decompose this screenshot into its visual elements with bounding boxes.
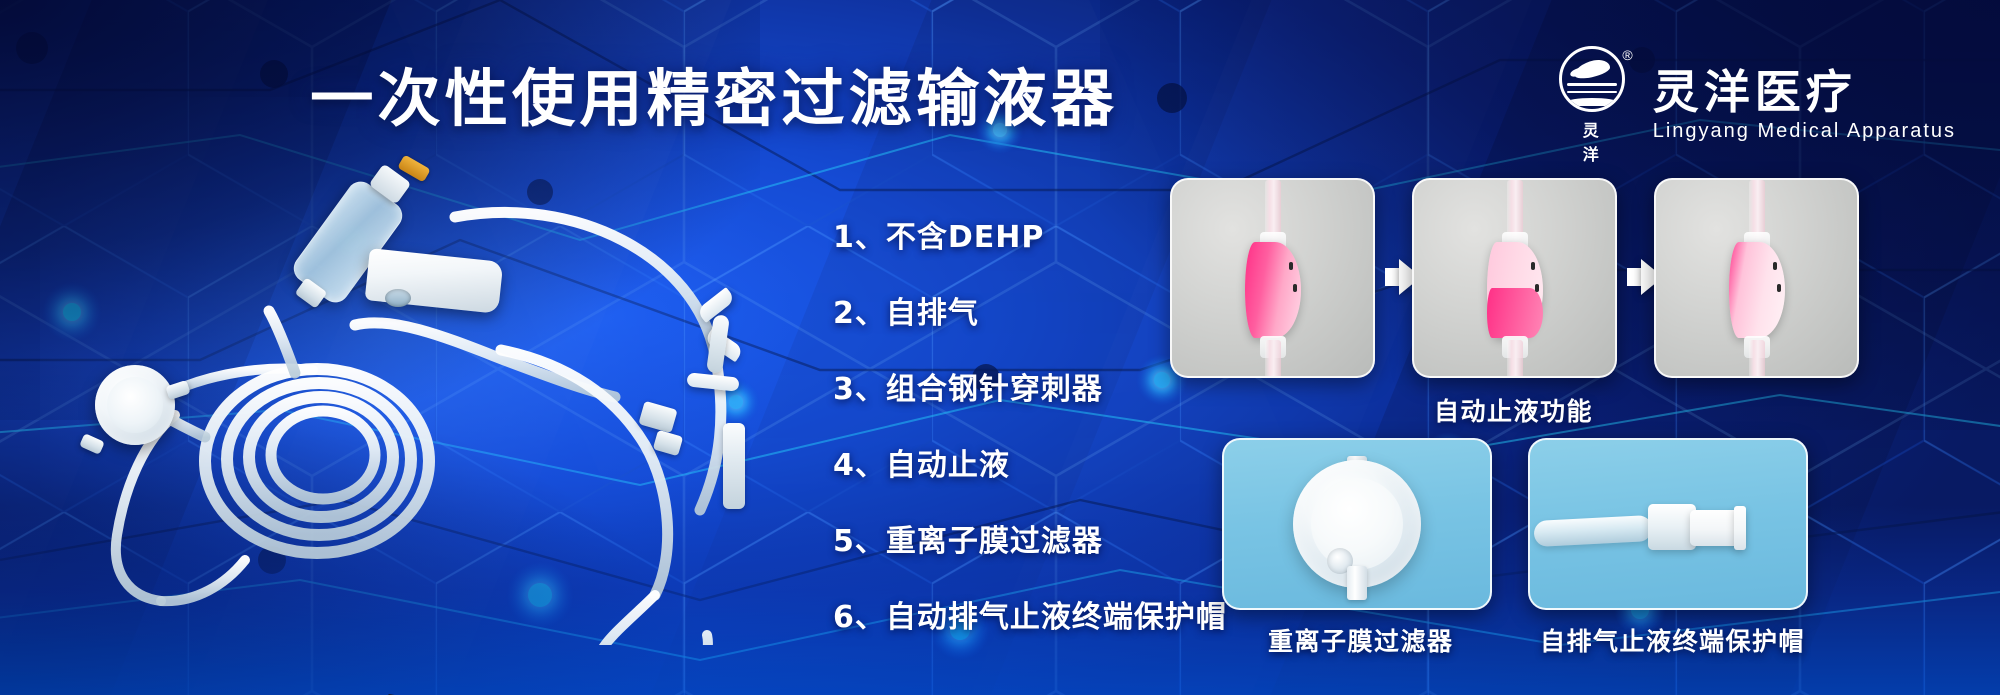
logo-wordmark: 灵洋医疗 Lingyang Medical Apparatus [1653,68,1956,143]
brand-logo: ® 灵 洋 灵洋医疗 Lingyang Medical Apparatus [1549,46,1956,165]
logo-emblem: ® 灵 洋 [1549,46,1635,165]
sequence-arrow-1-tail [1385,268,1399,286]
terminal-protective-cap [723,423,745,509]
sequence-caption: 自动止液功能 [1434,392,1593,428]
feature-item-1: 1、不含DEHP [833,212,1213,256]
company-name-en: Lingyang Medical Apparatus [1653,120,1956,143]
cap-end-flange [1734,506,1746,550]
registered-trademark-icon: ® [1622,48,1632,62]
caption-self-venting-terminal-cap: 自排气止液终端保护帽 [1540,622,1805,658]
feature-item-3: 3、组合钢针穿刺器 [833,364,1213,408]
cap-tubing [1533,515,1652,547]
feature-list: 1、不含DEHP 2、自排气 3、组合钢针穿刺器 4、自动止液 5、重离子膜过滤… [833,212,1213,636]
panel-heavy-ion-membrane-filter [1222,438,1492,610]
panel-self-venting-terminal-cap [1528,438,1808,610]
company-name-cn: 灵洋医疗 [1653,68,1956,116]
feature-item-6: 6、自动排气止液终端保护帽 [833,592,1213,636]
auto-stop-frame-3 [1654,178,1859,378]
feature-item-5: 5、重离子膜过滤器 [833,516,1213,560]
feature-item-4: 4、自动止液 [833,440,1213,484]
logo-emblem-subtext: 灵 洋 [1549,117,1635,165]
filter-membrane [1311,478,1403,570]
cap-luer-hub [1648,504,1696,550]
round-membrane-filter-core [107,377,163,433]
caption-heavy-ion-membrane-filter: 重离子膜过滤器 [1268,622,1454,658]
product-banner: 一次性使用精密过滤输液器 ® 灵 洋 灵洋医疗 Lingyang Medical… [0,0,2000,695]
auto-stop-frame-1 [1170,178,1375,378]
product-photo-infusion-set [55,165,775,645]
banner-title: 一次性使用精密过滤输液器 [310,48,1118,138]
roller-clamp-wheel [385,289,411,307]
filter-outlet-nozzle [1347,566,1367,600]
lingyang-circular-emblem-icon [1559,46,1625,112]
sequence-arrow-2-tail [1627,268,1641,286]
auto-stop-frame-2 [1412,178,1617,378]
feature-item-2: 2、自排气 [833,288,1213,332]
